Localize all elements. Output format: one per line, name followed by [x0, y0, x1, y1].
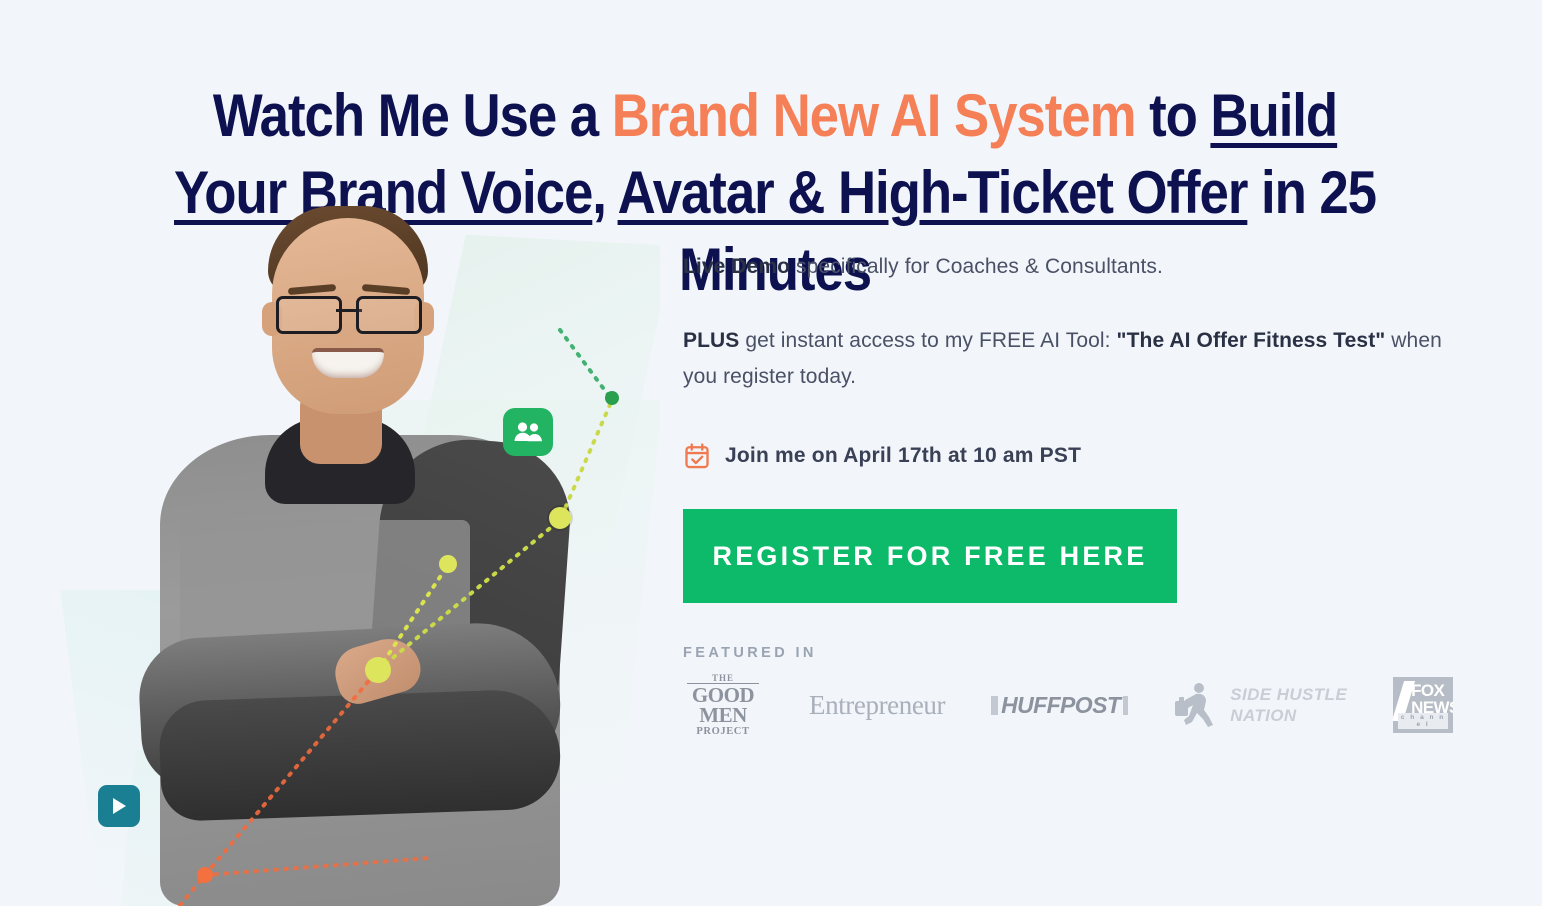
logo-fox-news: FOX NEWS c h a n n e l: [1393, 677, 1453, 733]
dateline-text: Join me on April 17th at 10 am PST: [725, 444, 1081, 468]
chart-point-orange-1: [197, 867, 213, 883]
register-cta-button[interactable]: REGISTER FOR FREE HERE: [683, 509, 1177, 603]
logo-the-good-men-project: THE GOOD MEN PROJECT: [683, 674, 763, 737]
tool-name-bold: "The AI Offer Fitness Test": [1117, 329, 1386, 352]
featured-in-label: FEATURED IN: [683, 645, 1483, 661]
headline-underline-2: Avatar & High-Ticket Offer: [618, 159, 1248, 226]
headline-part-1: Watch Me Use a: [213, 82, 612, 149]
bonus-paragraph: PLUS get instant access to my FREE AI To…: [683, 323, 1473, 394]
logo-entrepreneur: Entrepreneur: [809, 690, 945, 721]
bonus-mid: get instant access to my FREE AI Tool:: [739, 329, 1116, 352]
fox-channel-tag: c h a n n e l: [1398, 713, 1448, 729]
logo-side-hustle-nation: SIDE HUSTLE NATION: [1174, 681, 1347, 729]
press-logos: THE GOOD MEN PROJECT Entrepreneur HUFFPO…: [683, 674, 1483, 736]
chart-point-green: [605, 391, 619, 405]
gmp-project: PROJECT: [683, 727, 763, 737]
shn-line-1: SIDE HUSTLE: [1230, 684, 1347, 706]
headline-part-2: to: [1135, 82, 1210, 149]
headline-accent: Brand New AI System: [612, 82, 1136, 149]
hero-visual: [0, 190, 660, 906]
logo-huffpost: HUFFPOST: [991, 692, 1128, 719]
lead-bold: Live Demo: [683, 255, 790, 278]
offer-content: Live Demo specifically for Coaches & Con…: [683, 256, 1483, 736]
running-man-icon: [1174, 681, 1220, 729]
plus-bold: PLUS: [683, 329, 739, 352]
chart-point-yellow-3: [365, 657, 391, 683]
shn-line-2: NATION: [1230, 705, 1347, 727]
chart-point-yellow-2: [439, 555, 457, 573]
lead-paragraph: Live Demo specifically for Coaches & Con…: [683, 256, 1483, 277]
gmp-men: MEN: [683, 706, 763, 725]
play-badge-icon[interactable]: [98, 785, 140, 827]
fox-words: FOX NEWS: [1411, 683, 1453, 716]
shn-text: SIDE HUSTLE NATION: [1230, 684, 1347, 728]
huffpost-word: HUFFPOST: [1001, 692, 1120, 719]
event-dateline: Join me on April 17th at 10 am PST: [683, 442, 1483, 470]
huffpost-bar-left: [991, 696, 998, 715]
huffpost-bar-right: [1123, 696, 1128, 715]
chart-point-yellow-1: [549, 507, 571, 529]
calendar-check-icon: [683, 442, 711, 470]
people-badge-icon: [503, 408, 553, 456]
lead-rest: specifically for Coaches & Consultants.: [790, 255, 1163, 278]
